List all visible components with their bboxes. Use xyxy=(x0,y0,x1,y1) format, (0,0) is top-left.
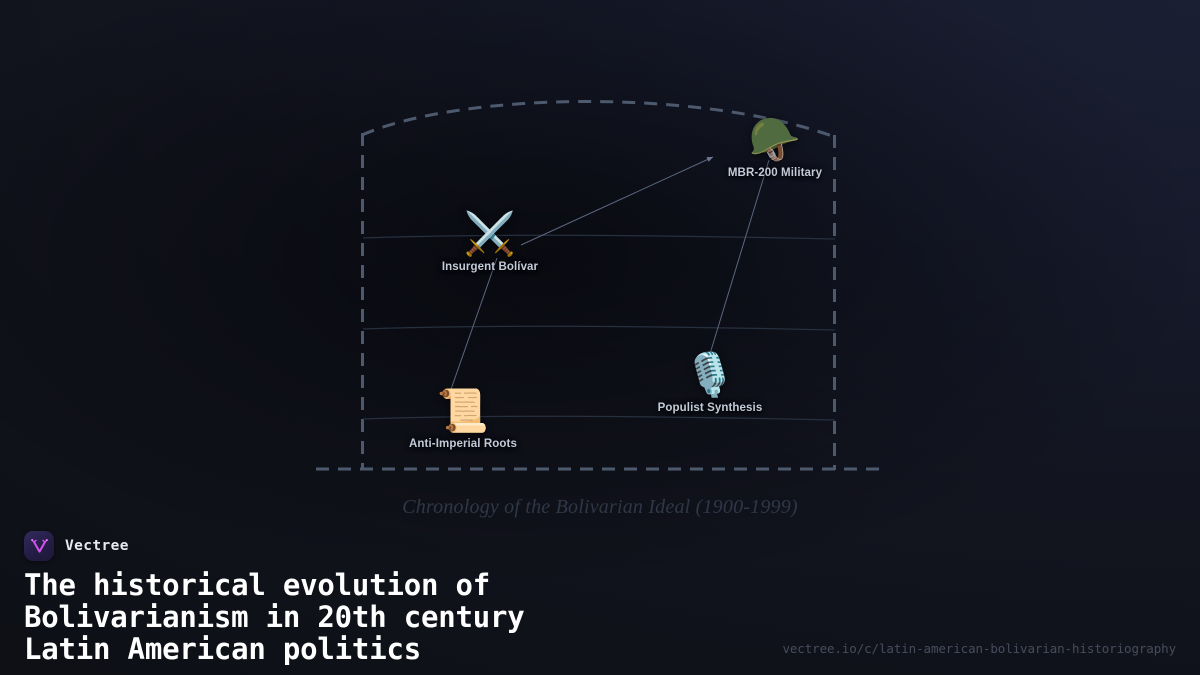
brand-lockup[interactable]: Vectree xyxy=(24,531,129,561)
source-url[interactable]: vectree.io/c/latin-american-bolivarian-h… xyxy=(782,641,1176,656)
timeline-visualization[interactable]: 📜 Anti-Imperial Roots ⚔️ Insurgent Bolív… xyxy=(0,0,1200,492)
diagram-node-populist-synthesis[interactable]: 🎙️ Populist Synthesis xyxy=(650,352,770,416)
footer: Vectree The historical evolution of Boli… xyxy=(0,515,1200,675)
headline-title: The historical evolution of Bolivarianis… xyxy=(24,569,525,665)
scroll-icon: 📜 xyxy=(403,388,523,434)
military-helmet-icon: 🪖 xyxy=(715,117,835,163)
node-label: Populist Synthesis xyxy=(658,402,763,414)
diagram-node-mbr-200-military[interactable]: 🪖 MBR-200 Military xyxy=(715,117,835,181)
node-label: Insurgent Bolívar xyxy=(442,261,538,273)
v-tree-glyph xyxy=(30,537,49,556)
crossed-swords-icon: ⚔️ xyxy=(430,211,550,257)
diagram-canvas xyxy=(0,0,1200,492)
studio-microphone-icon: 🎙️ xyxy=(650,352,770,398)
node-label: Anti-Imperial Roots xyxy=(409,438,517,450)
diagram-node-anti-imperial-roots[interactable]: 📜 Anti-Imperial Roots xyxy=(403,388,523,452)
brand-name: Vectree xyxy=(65,538,129,554)
node-label: MBR-200 Military xyxy=(728,167,822,179)
vectree-logo-icon xyxy=(24,531,54,561)
diagram-node-insurgent-bolivar[interactable]: ⚔️ Insurgent Bolívar xyxy=(430,211,550,275)
edge-populist-synthesis-to-mbr-200-military xyxy=(709,160,769,357)
